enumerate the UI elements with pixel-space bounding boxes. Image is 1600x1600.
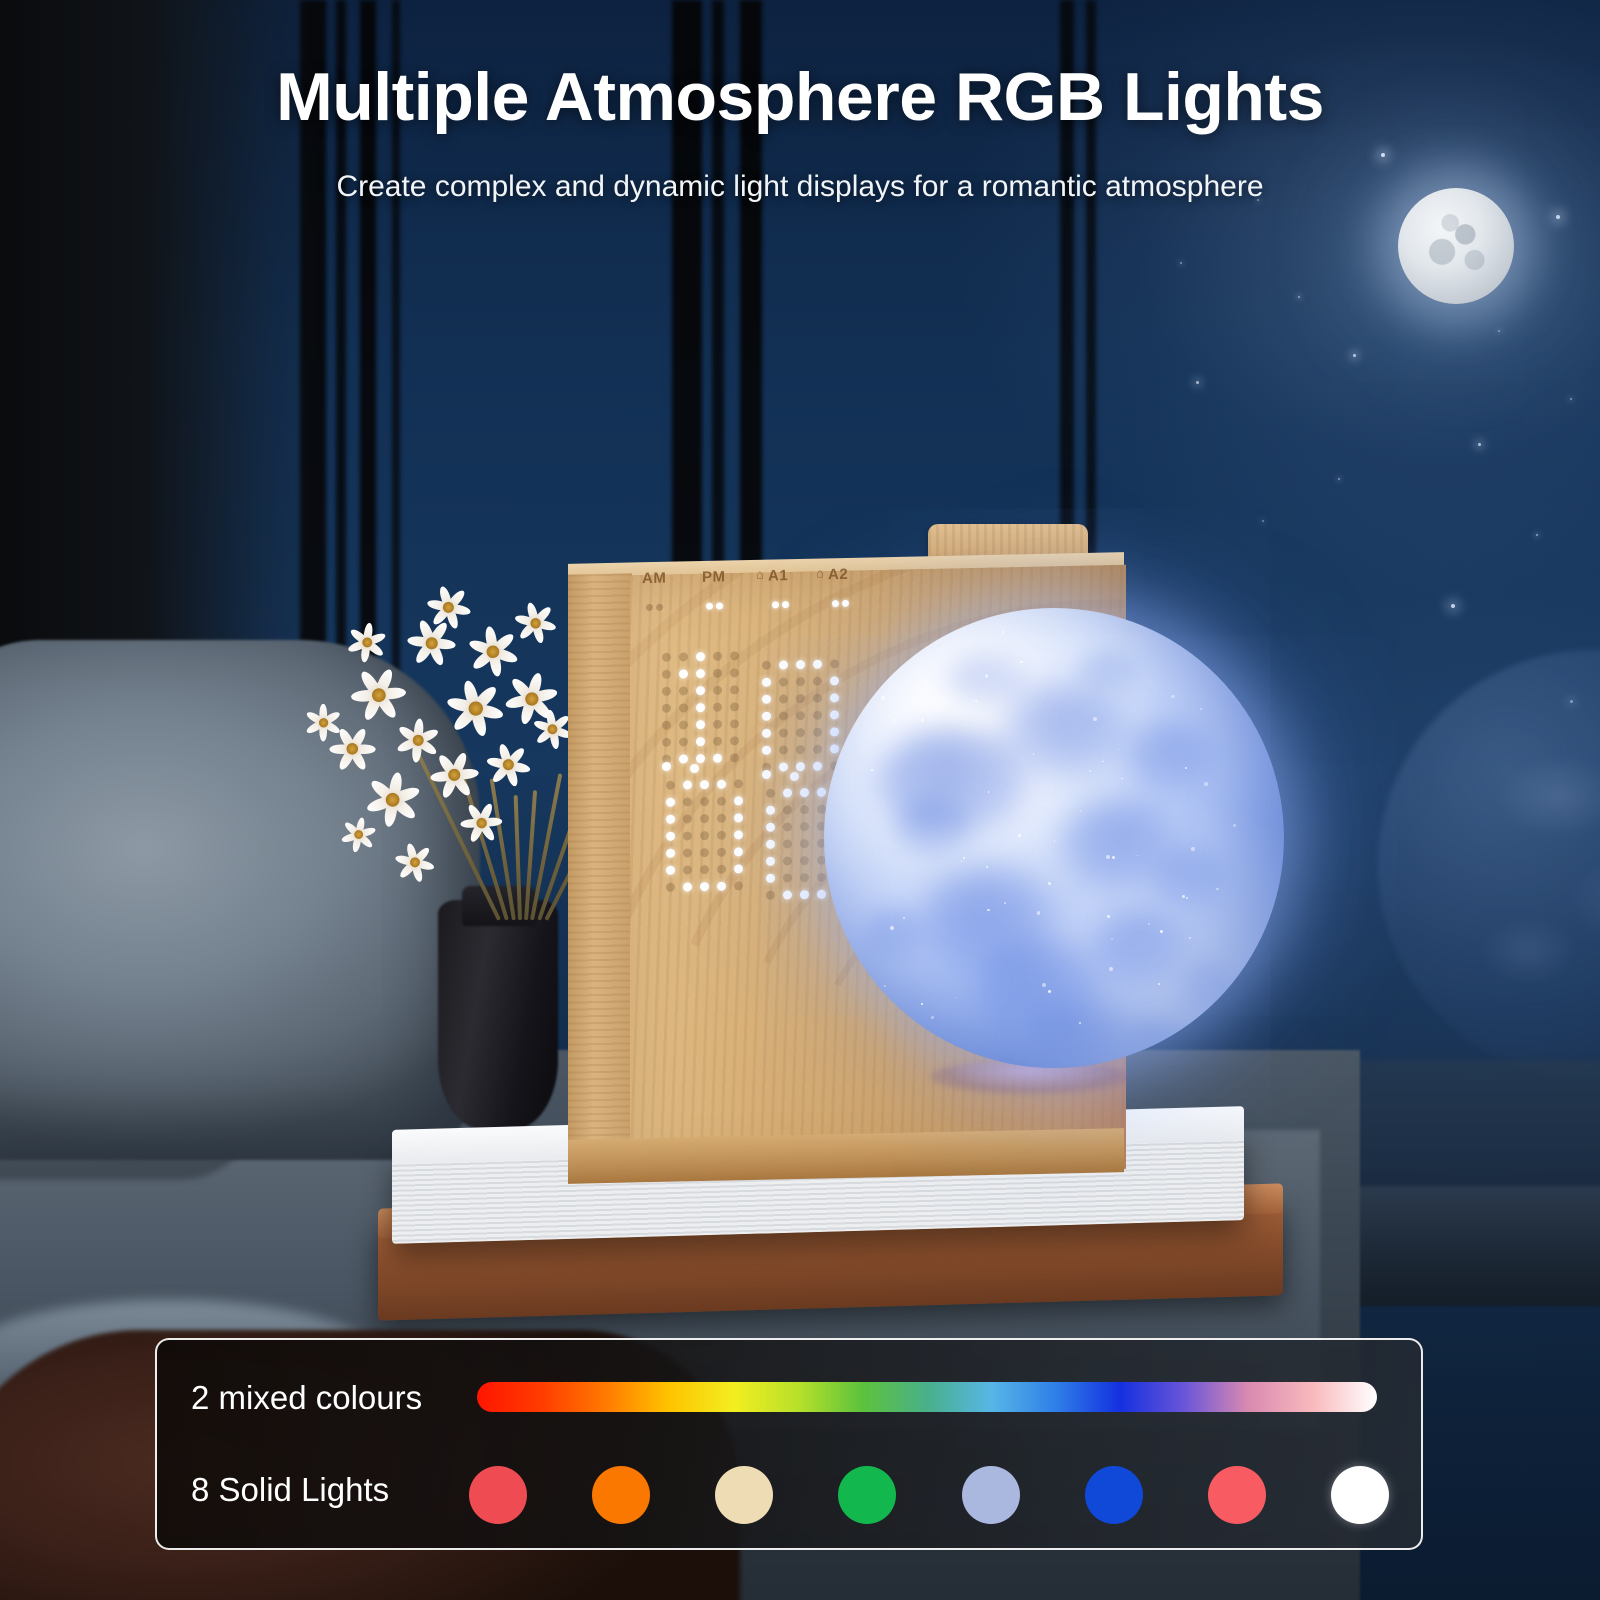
led-pixel — [717, 780, 726, 789]
led-pixel — [830, 693, 839, 702]
led-pixel — [762, 661, 771, 670]
moon-crater — [1124, 1016, 1198, 1066]
led-pixel — [713, 703, 722, 712]
led-pixel — [766, 874, 775, 883]
led-pixel — [830, 659, 839, 668]
solid-lights-label: 8 Solid Lights — [191, 1471, 389, 1509]
star — [1262, 520, 1264, 522]
wood-left-side — [568, 573, 632, 1170]
solid-colour-swatch-pink[interactable] — [1208, 1466, 1266, 1524]
led-pixel — [813, 728, 822, 737]
mixed-colours-label: 2 mixed colours — [191, 1379, 422, 1417]
moon-speckle — [1106, 855, 1110, 859]
led-pixel — [696, 720, 705, 729]
star — [1556, 215, 1560, 219]
led-pixel — [713, 669, 722, 678]
clock-digit-0 — [762, 659, 847, 780]
moon-speckle — [1185, 767, 1187, 769]
led-pixel — [779, 711, 788, 720]
moon-speckle — [1018, 834, 1021, 837]
led-pixel — [700, 848, 709, 857]
led-pixel — [813, 660, 822, 669]
led-pixel — [717, 831, 726, 840]
page-subtitle: Create complex and dynamic light display… — [0, 170, 1600, 204]
led-pixel — [830, 727, 839, 736]
star — [1381, 153, 1385, 157]
led-pixel — [762, 678, 771, 687]
moon-speckle — [921, 1003, 923, 1005]
led-pixel — [800, 822, 809, 831]
moon-speckle — [872, 693, 873, 694]
moon-speckle — [921, 639, 923, 641]
solid-colour-swatch-white[interactable] — [1331, 1466, 1389, 1524]
clock-digit-1 — [662, 651, 747, 772]
led-pixel — [796, 745, 805, 754]
solid-colour-swatch-red[interactable] — [469, 1466, 527, 1524]
flower — [337, 813, 381, 857]
led-pixel — [813, 694, 822, 703]
led-pixel — [830, 710, 839, 719]
moon-speckle — [1048, 882, 1051, 885]
moon-speckle — [986, 866, 988, 868]
led-pixel — [717, 882, 726, 891]
led-pixel — [713, 754, 722, 763]
led-pixel — [734, 881, 743, 890]
bell-icon: ⌂ — [756, 567, 764, 582]
led-pixel — [683, 882, 692, 891]
led-pixel — [679, 737, 688, 746]
led-pixel — [830, 676, 839, 685]
led-pixel — [662, 670, 671, 679]
led-pixel — [717, 797, 726, 806]
feature-panel: 2 mixed colours 8 Solid Lights — [155, 1338, 1423, 1550]
led-pixel — [662, 721, 671, 730]
led-pixel — [779, 728, 788, 737]
moon-crater — [1124, 720, 1216, 794]
led-pixel — [666, 866, 675, 875]
moon-speckle — [1042, 983, 1046, 987]
led-pixel — [679, 754, 688, 763]
solid-colour-swatch-blue[interactable] — [1085, 1466, 1143, 1524]
led-pixel — [730, 736, 739, 745]
led-pixel — [730, 685, 739, 694]
page-title: Multiple Atmosphere RGB Lights — [0, 58, 1600, 136]
led-pixel — [779, 660, 788, 669]
solid-colour-swatch-periwinkle[interactable] — [962, 1466, 1020, 1524]
star — [1180, 262, 1182, 264]
led-pixel — [700, 780, 709, 789]
moon-speckle — [1033, 753, 1035, 755]
led-pixel — [662, 738, 671, 747]
pillow — [0, 640, 480, 1160]
solid-lights-row: 8 Solid Lights — [191, 1464, 389, 1516]
moon-lamp-sphere — [824, 608, 1284, 1068]
star — [1196, 381, 1199, 384]
led-pixel — [783, 890, 792, 899]
led-pixel — [796, 660, 805, 669]
led-pixel — [800, 873, 809, 882]
moon-crater — [1076, 650, 1140, 694]
led-pixel — [766, 789, 775, 798]
vase — [438, 900, 558, 1130]
led-pixel — [700, 865, 709, 874]
led-pixel — [766, 857, 775, 866]
moon-crater — [1022, 1000, 1132, 1068]
moon-crater — [862, 908, 926, 962]
led-pixel — [796, 728, 805, 737]
solid-colour-swatch-orange[interactable] — [592, 1466, 650, 1524]
star — [1298, 296, 1300, 298]
led-pixel — [813, 677, 822, 686]
star — [1451, 604, 1455, 608]
led-pixel — [700, 797, 709, 806]
star — [1353, 354, 1356, 357]
flower — [422, 580, 477, 635]
led-pixel — [666, 781, 675, 790]
led-pixel — [666, 798, 675, 807]
led-pixel — [783, 873, 792, 882]
led-pixel — [779, 694, 788, 703]
led-pixel — [762, 746, 771, 755]
moon-speckle — [961, 860, 962, 861]
led-pixel — [696, 737, 705, 746]
led-pixel — [783, 839, 792, 848]
led-pixel — [783, 805, 792, 814]
led-pixel — [713, 737, 722, 746]
led-pixel — [679, 703, 688, 712]
moon-crater — [1170, 960, 1242, 1018]
led-pixel — [800, 856, 809, 865]
led-pixel — [662, 704, 671, 713]
moon-speckle — [1204, 782, 1207, 785]
led-pixel — [783, 822, 792, 831]
star — [1536, 534, 1538, 536]
led-pixel — [679, 686, 688, 695]
moon-speckle — [881, 696, 885, 700]
moon-speckle — [1089, 770, 1091, 772]
clock-digit-0 — [666, 779, 751, 900]
led-pixel — [800, 805, 809, 814]
led-pixel — [796, 694, 805, 703]
led-pixel — [730, 753, 739, 762]
led-pixel — [713, 720, 722, 729]
led-pixel — [683, 797, 692, 806]
led-pixel — [813, 745, 822, 754]
product-marketing-image: AMPMA1⌂A2⌂ Multiple Atmosphere RGB Light… — [0, 0, 1600, 1600]
moon-speckle — [1224, 654, 1227, 657]
led-pixel — [717, 848, 726, 857]
mixed-colours-row: 2 mixed colours — [191, 1376, 422, 1420]
led-pixel — [679, 669, 688, 678]
moon-speckle — [855, 1003, 856, 1004]
led-pixel — [730, 668, 739, 677]
led-pixel — [666, 815, 675, 824]
sky-full-moon — [1398, 188, 1514, 304]
led-pixel — [717, 865, 726, 874]
led-pixel — [679, 652, 688, 661]
led-pixel — [730, 651, 739, 660]
led-pixel — [696, 754, 705, 763]
led-pixel — [683, 865, 692, 874]
led-pixel — [734, 813, 743, 822]
led-pixel — [766, 806, 775, 815]
led-pixel — [683, 814, 692, 823]
led-pixel — [800, 788, 809, 797]
moon-crater — [894, 796, 972, 858]
led-pixel — [683, 831, 692, 840]
clock-indicator-am: AM — [642, 570, 666, 588]
led-pixel — [817, 890, 826, 899]
led-pixel — [762, 712, 771, 721]
star — [1570, 398, 1572, 400]
led-pixel — [762, 729, 771, 738]
led-pixel — [662, 687, 671, 696]
moon-speckle — [1020, 661, 1023, 664]
bell-icon: ⌂ — [816, 565, 824, 580]
led-pixel — [766, 840, 775, 849]
flower-stem — [514, 795, 522, 920]
led-pixel — [783, 856, 792, 865]
led-pixel — [734, 864, 743, 873]
led-pixel — [734, 796, 743, 805]
led-pixel — [783, 788, 792, 797]
moon-speckle — [1191, 847, 1195, 851]
led-pixel — [779, 677, 788, 686]
led-pixel — [696, 686, 705, 695]
star — [1498, 330, 1500, 332]
moon-speckle — [1233, 824, 1236, 827]
led-pixel — [683, 780, 692, 789]
star — [1478, 443, 1481, 446]
led-pixel — [813, 711, 822, 720]
led-pixel — [813, 762, 822, 771]
led-pixel — [662, 653, 671, 662]
led-pixel — [683, 848, 692, 857]
led-pixel — [730, 719, 739, 728]
led-pixel — [696, 669, 705, 678]
led-pixel — [734, 847, 743, 856]
moon-speckle — [975, 700, 977, 702]
clock-indicator-a2: A2 — [828, 566, 848, 583]
led-pixel — [800, 839, 809, 848]
led-pixel — [796, 762, 805, 771]
led-pixel — [734, 779, 743, 788]
led-pixel — [696, 652, 705, 661]
led-pixel — [817, 873, 826, 882]
led-pixel — [713, 652, 722, 661]
led-pixel — [713, 686, 722, 695]
moon-speckle — [1109, 967, 1113, 971]
moon-speckle — [1171, 695, 1174, 698]
star — [1338, 478, 1340, 480]
led-pixel — [700, 831, 709, 840]
led-pixel — [730, 702, 739, 711]
solid-colour-swatch-warm-white[interactable] — [715, 1466, 773, 1524]
led-pixel — [700, 882, 709, 891]
led-pixel — [717, 814, 726, 823]
solid-colour-swatch-green[interactable] — [838, 1466, 896, 1524]
led-pixel — [666, 849, 675, 858]
led-pixel — [796, 711, 805, 720]
led-pixel — [766, 823, 775, 832]
moon-speckle — [1079, 1022, 1080, 1023]
led-pixel — [666, 832, 675, 841]
clock-indicator-a1: A1 — [768, 567, 788, 584]
led-pixel — [779, 745, 788, 754]
moon-crater — [1150, 846, 1228, 910]
led-pixel — [796, 677, 805, 686]
led-pixel — [766, 891, 775, 900]
led-pixel — [779, 762, 788, 771]
led-pixel — [762, 695, 771, 704]
led-pixel — [800, 890, 809, 899]
led-pixel — [734, 830, 743, 839]
led-pixel — [679, 720, 688, 729]
led-pixel — [830, 744, 839, 753]
colour-gradient-bar[interactable] — [477, 1382, 1377, 1412]
led-pixel — [666, 883, 675, 892]
led-pixel — [817, 788, 826, 797]
moon-speckle — [1158, 983, 1160, 985]
led-pixel — [700, 814, 709, 823]
led-pixel — [696, 703, 705, 712]
solid-colour-swatches — [469, 1460, 1389, 1530]
moon-crater — [944, 654, 1030, 708]
clock-indicator-pm: PM — [702, 568, 726, 585]
